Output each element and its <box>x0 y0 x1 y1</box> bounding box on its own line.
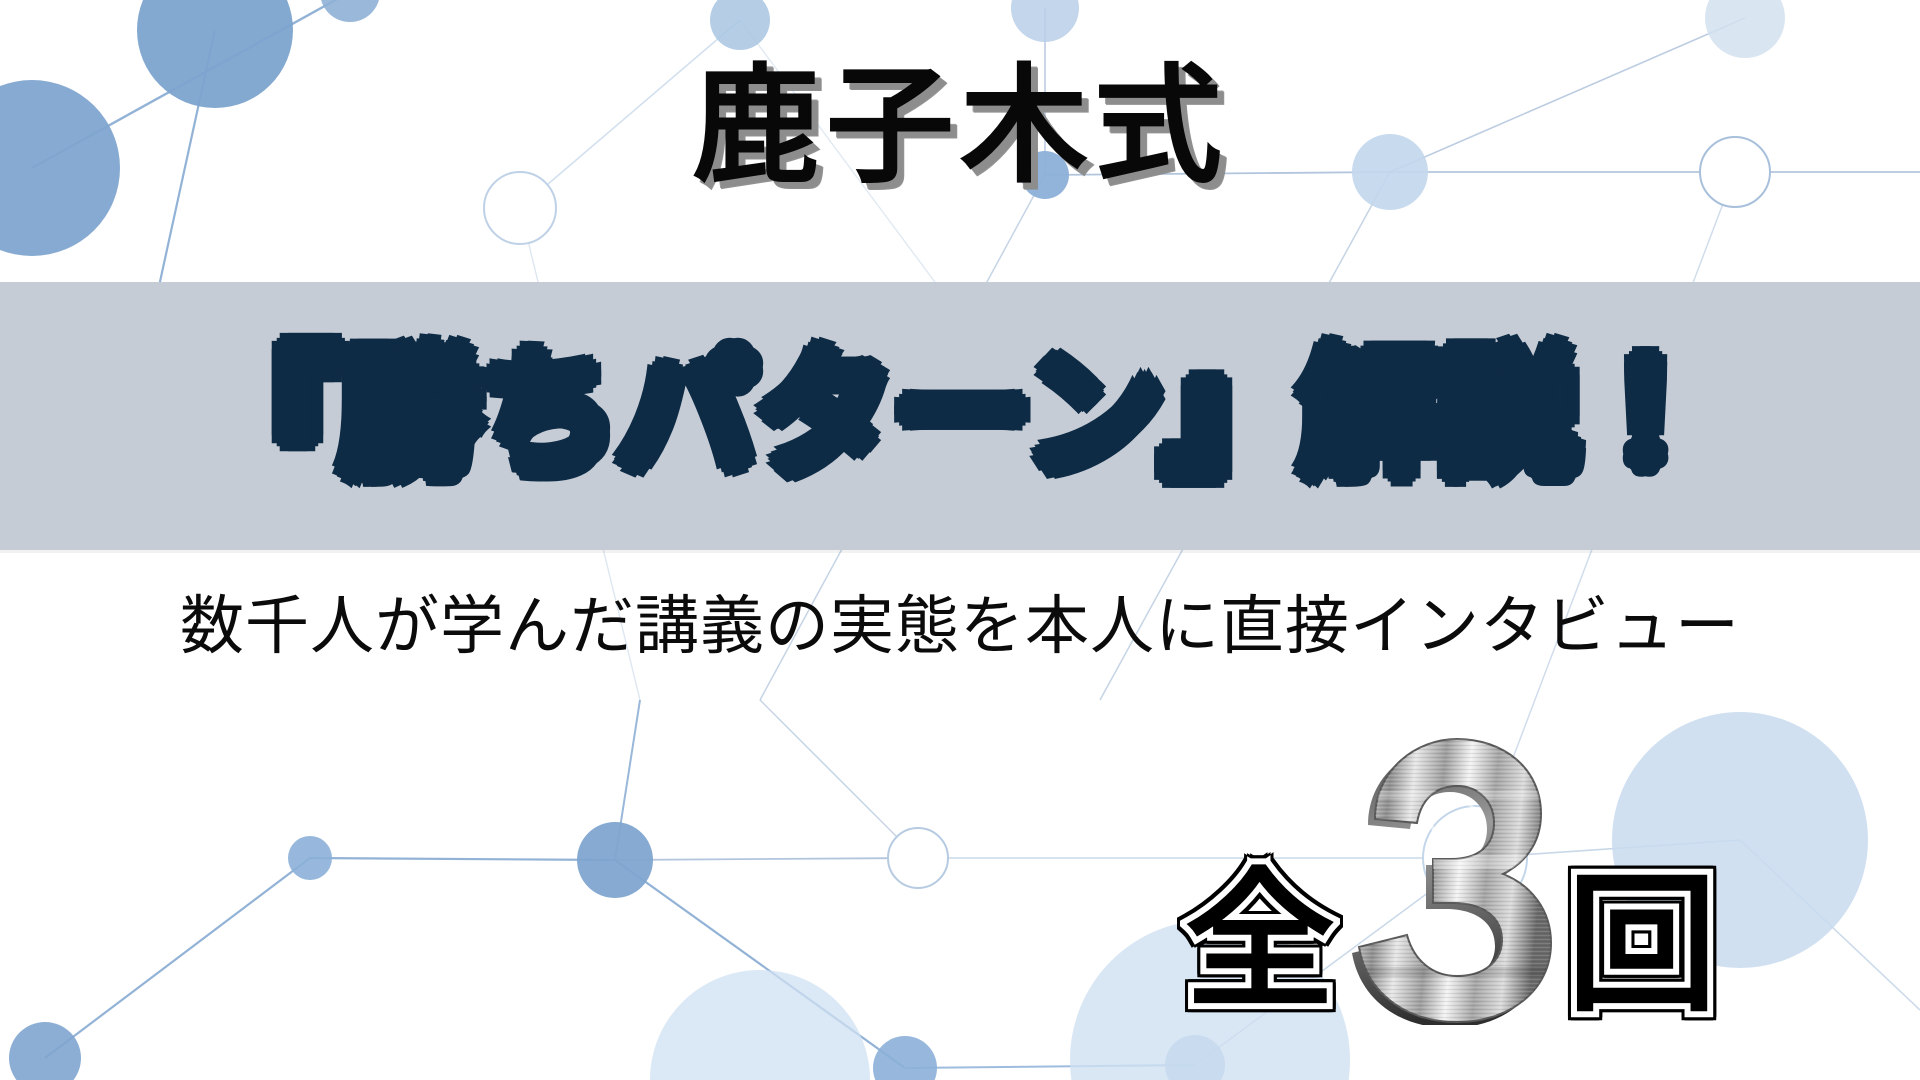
course-count-badge: 全 3 <box>1185 735 1805 1025</box>
network-node <box>288 836 332 880</box>
network-node <box>1011 0 1079 42</box>
brand-title-row: 鹿子木式 <box>0 58 1920 196</box>
network-edge <box>760 700 918 858</box>
brand-title: 鹿子木式 <box>692 58 1228 196</box>
network-node <box>320 0 380 22</box>
network-node <box>888 828 948 888</box>
network-node <box>1705 0 1785 58</box>
badge-prefix-kanji: 全 <box>1185 867 1335 1017</box>
network-node <box>650 970 870 1080</box>
badge-suffix-kanji: 回 <box>1567 871 1717 1021</box>
network-edge <box>615 858 918 860</box>
network-edge <box>310 858 615 860</box>
network-edge <box>45 858 310 1058</box>
subtitle-row: 数千人が学んだ講義の実態を本人に直接インタビュー <box>0 592 1920 664</box>
network-node <box>9 1022 81 1080</box>
network-node <box>710 0 770 50</box>
network-node <box>577 822 653 898</box>
badge-number-metallic: 3 <box>1345 735 1557 1025</box>
network-node <box>873 1036 937 1080</box>
subtitle-text: 数千人が学んだ講義の実態を本人に直接インタビュー <box>180 590 1740 664</box>
slide-canvas: 鹿子木式 『勝ちパターン』解説！『勝ちパターン』解説！ 数千人が学んだ講義の実態… <box>0 0 1920 1080</box>
headline-banner-band <box>0 282 1920 550</box>
